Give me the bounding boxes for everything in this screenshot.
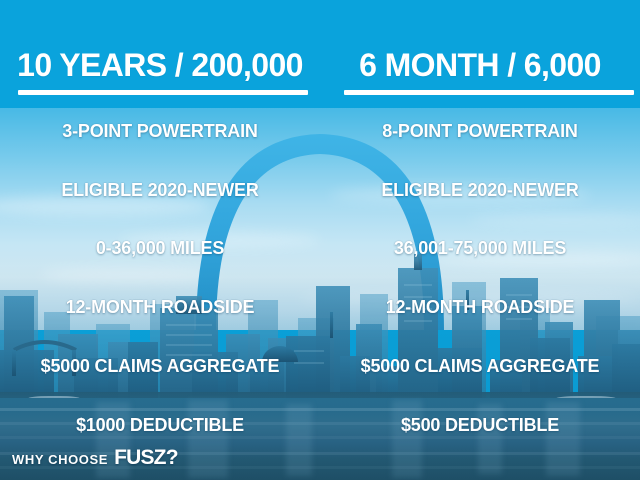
plan-feature-row: $5000 CLAIMS AGGREGATE <box>0 355 320 377</box>
comparison-table: 10 YEARS / 200,000 3-POINT POWERTRAIN EL… <box>0 0 640 480</box>
plan-feature-row: 12-MONTH ROADSIDE <box>320 296 640 318</box>
plan-feature-row: $5000 CLAIMS AGGREGATE <box>320 355 640 377</box>
plan-feature-row: ELIGIBLE 2020-NEWER <box>320 179 640 201</box>
plan-feature-row: 12-MONTH ROADSIDE <box>0 296 320 318</box>
brand-logo: WHY CHOOSE FUSZ? <box>12 446 178 470</box>
plan-feature-row: 0-36,000 MILES <box>0 237 320 259</box>
plan-heading-right: 6 MONTH / 6,000 <box>320 46 640 84</box>
plan-column-six-month: 6 MONTH / 6,000 8-POINT POWERTRAIN ELIGI… <box>320 0 640 480</box>
plan-feature-row: $1000 DEDUCTIBLE <box>0 414 320 436</box>
logo-prefix-text: WHY CHOOSE <box>12 452 108 467</box>
plan-feature-row: 36,001-75,000 MILES <box>320 237 640 259</box>
logo-brand-text: FUSZ? <box>114 446 178 470</box>
plan-feature-row: 8-POINT POWERTRAIN <box>320 120 640 142</box>
heading-underline-left <box>18 90 308 95</box>
heading-underline-right <box>344 90 634 95</box>
promo-graphic: 10 YEARS / 200,000 3-POINT POWERTRAIN EL… <box>0 0 640 480</box>
plan-column-ten-year: 10 YEARS / 200,000 3-POINT POWERTRAIN EL… <box>0 0 320 480</box>
plan-feature-row: $500 DEDUCTIBLE <box>320 414 640 436</box>
plan-heading-left: 10 YEARS / 200,000 <box>0 46 320 84</box>
plan-feature-row: ELIGIBLE 2020-NEWER <box>0 179 320 201</box>
plan-feature-row: 3-POINT POWERTRAIN <box>0 120 320 142</box>
